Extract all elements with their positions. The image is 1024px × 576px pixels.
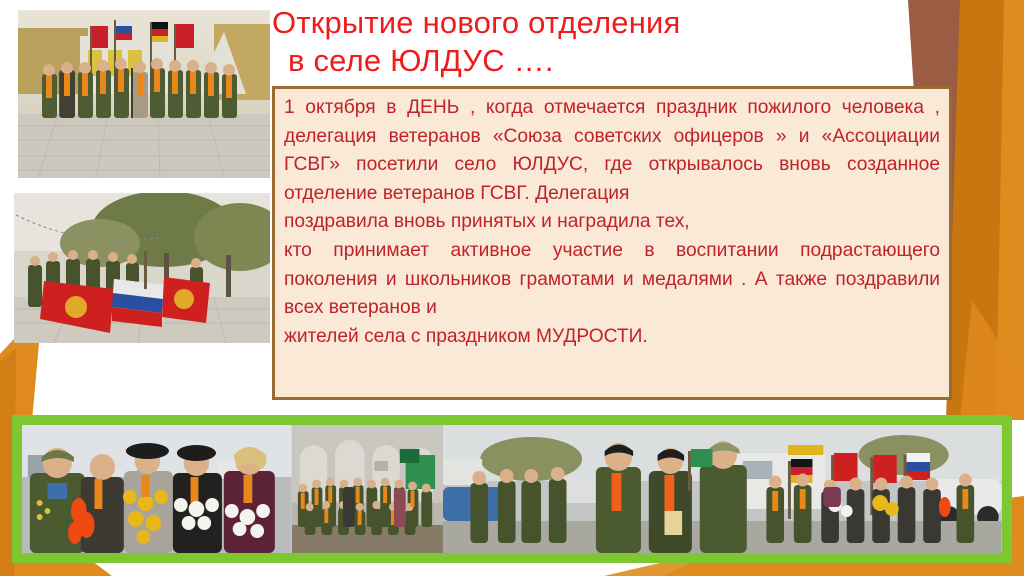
presentation-slide: Открытие нового отделения в селе ЮЛДУС …… — [0, 0, 1024, 576]
body-text-box: 1 октября в ДЕНЬ , когда отмечается праз… — [272, 86, 952, 400]
body-text-content: 1 октября в ДЕНЬ , когда отмечается праз… — [275, 89, 949, 351]
band-orange-pale-shape — [960, 300, 1024, 420]
title-line-2: в селе ЮЛДУС …. — [272, 42, 892, 80]
bottom-photo-strip — [22, 425, 1002, 553]
band-orange-light-shape — [996, 0, 1024, 420]
slide-title: Открытие нового отделения в селе ЮЛДУС …… — [272, 4, 892, 80]
veterans-with-flowers-photo — [22, 425, 292, 553]
body-paragraph-3: кто принимает активное участие в воспита… — [284, 237, 940, 323]
bottom-photo-strip-frame — [12, 415, 1012, 563]
group-photo-at-memorial — [18, 10, 270, 178]
title-line-1: Открытие нового отделения — [272, 4, 892, 42]
band-orange-dark-shape — [946, 0, 1014, 420]
body-paragraph-4: жителей села с праздником МУДРОСТИ. — [284, 323, 940, 352]
body-paragraph-2: поздравила вновь принятых и наградила те… — [284, 208, 940, 237]
body-paragraph-1: 1 октября в ДЕНЬ , когда отмечается праз… — [284, 94, 940, 208]
indoor-group-photo — [292, 425, 444, 553]
flag-procession-photo — [14, 193, 270, 343]
veterans-outdoor-photo — [443, 425, 1002, 553]
